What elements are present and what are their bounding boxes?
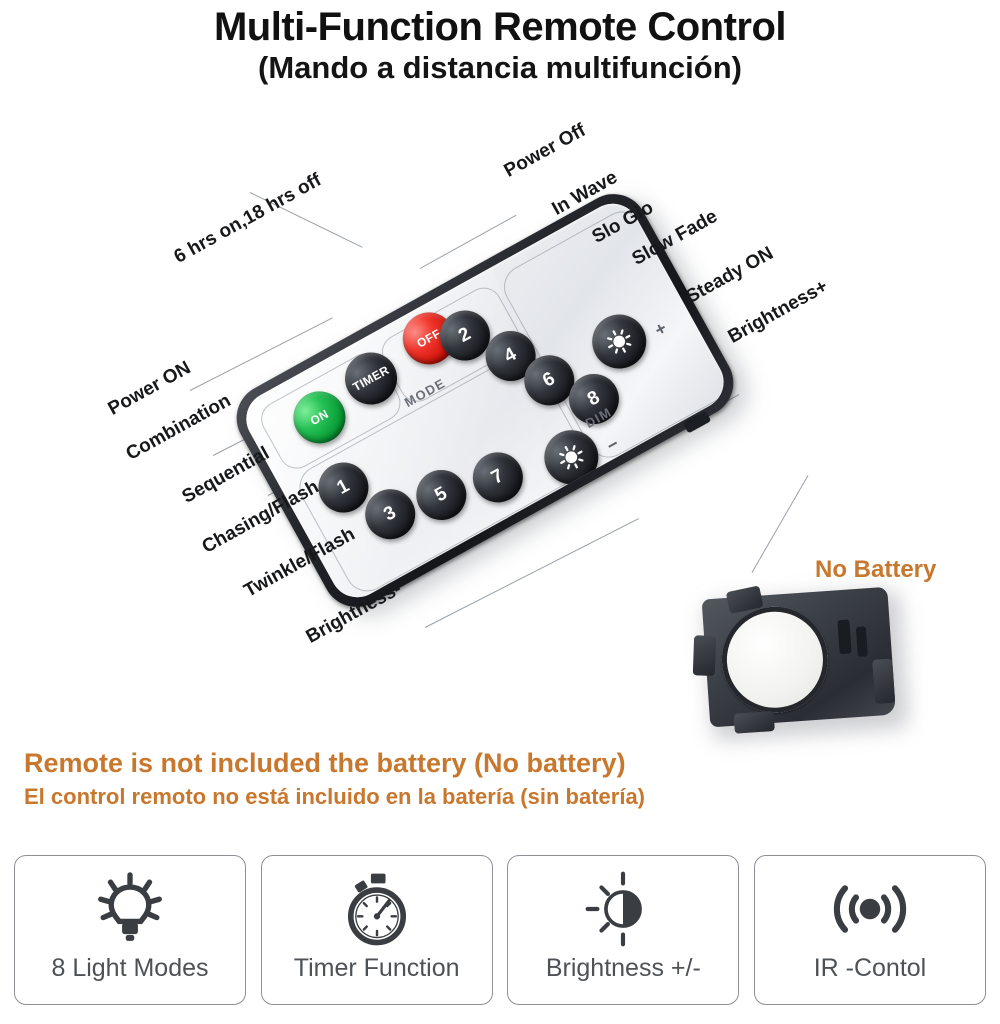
feature-label: IR -Contol bbox=[814, 954, 927, 983]
tray-clip-bottom bbox=[734, 711, 775, 734]
product-photo-area: ON TIMER OFF MODE 1 3 5 7 2 4 6 8 DIM bbox=[0, 100, 1000, 750]
battery-tray bbox=[695, 578, 905, 742]
feature-card-brightness[interactable]: Brightness +/- bbox=[507, 855, 739, 1005]
tray-slot-1 bbox=[837, 619, 851, 654]
stopwatch-icon bbox=[338, 870, 416, 948]
leader-line-no-battery bbox=[752, 475, 809, 572]
page-subtitle: (Mando a distancia multifunción) bbox=[0, 51, 1000, 85]
notice-english: Remote is not included the battery (No b… bbox=[24, 748, 724, 780]
feature-card-light-modes[interactable]: 8 Light Modes bbox=[14, 855, 246, 1005]
tray-clip-left bbox=[693, 635, 716, 676]
callout-steady-on: Steady ON bbox=[683, 243, 778, 309]
battery-slot-empty bbox=[718, 603, 831, 716]
feature-card-timer[interactable]: Timer Function bbox=[261, 855, 493, 1005]
feature-card-row: 8 Light Modes bbox=[0, 855, 1000, 1015]
sun-burst-icon bbox=[602, 324, 637, 359]
tray-slot-2 bbox=[856, 626, 868, 657]
title-block: Multi-Function Remote Control (Mando a d… bbox=[0, 6, 1000, 85]
callout-timer-function: 6 hrs on,18 hrs off bbox=[171, 170, 326, 269]
tray-clip-right bbox=[872, 659, 895, 704]
feature-label: 8 Light Modes bbox=[51, 954, 208, 983]
callout-brightness-up: Brightness+ bbox=[725, 276, 832, 349]
battery-notice: Remote is not included the battery (No b… bbox=[24, 748, 724, 810]
no-battery-label: No Battery bbox=[815, 556, 936, 584]
callout-sequential: Sequential bbox=[179, 443, 274, 509]
page-title: Multi-Function Remote Control bbox=[0, 6, 1000, 48]
callout-power-off: Power Off bbox=[501, 120, 590, 183]
tray-body bbox=[702, 587, 896, 728]
ir-signal-icon bbox=[831, 870, 909, 948]
feature-card-ir-control[interactable]: IR -Contol bbox=[754, 855, 986, 1005]
callout-power-on: Power ON bbox=[105, 357, 195, 420]
notice-spanish: El control remoto no está incluido en la… bbox=[24, 783, 724, 811]
feature-label: Brightness +/- bbox=[546, 954, 701, 983]
lightbulb-rays-icon bbox=[91, 870, 169, 948]
feature-label: Timer Function bbox=[294, 954, 460, 983]
sun-burst-icon bbox=[554, 440, 589, 475]
brightness-half-sun-icon bbox=[584, 870, 662, 948]
